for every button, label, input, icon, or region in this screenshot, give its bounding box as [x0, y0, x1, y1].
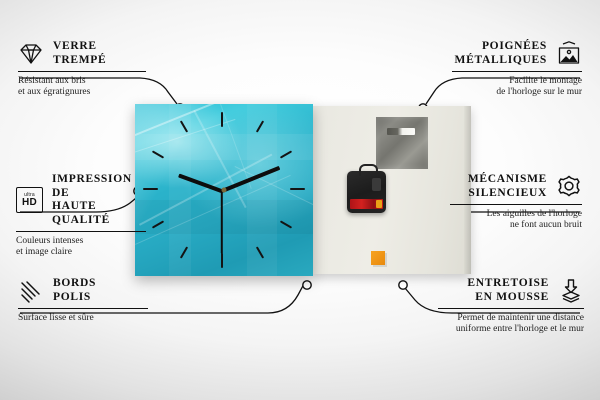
feature-mecanisme-silencieux: MÉCANISME SILENCIEUX Les aiguilles de l'… — [450, 173, 582, 232]
feature-title-line2: MÉTALLIQUES — [455, 54, 547, 68]
clock-center-hub — [222, 188, 227, 193]
feature-title-line1: MÉCANISME — [468, 173, 547, 187]
feature-subtitle-line1: Couleurs intenses — [16, 236, 146, 248]
feature-subtitle-line1: Résistant aux bris — [18, 76, 146, 88]
feature-rule — [18, 308, 148, 309]
feature-title-line2: SILENCIEUX — [468, 187, 547, 201]
feature-rule — [438, 308, 584, 309]
feature-title-line1: BORDS — [53, 277, 96, 291]
feature-entretoise-en-mousse: ENTRETOISE EN MOUSSE Permet de maintenir… — [438, 277, 584, 336]
feature-verre-trempe: VERRE TREMPÉ Résistant aux bris et aux é… — [18, 40, 146, 99]
feature-title-line2: HAUTE QUALITÉ — [52, 200, 146, 227]
aa-battery — [350, 199, 383, 209]
quartz-mechanism-box — [347, 171, 386, 213]
feature-subtitle-line1: Permet de maintenir une distance — [438, 313, 584, 325]
feature-subtitle-line1: Facilite le montage — [452, 76, 582, 88]
glass-wall-clock — [135, 104, 313, 276]
product-group — [135, 104, 471, 276]
feature-subtitle-line2: de l'horloge sur le mur — [452, 87, 582, 99]
polished-edges-icon — [18, 278, 44, 304]
feature-rule — [450, 204, 582, 205]
connector-dot-bords — [303, 281, 311, 289]
infographic-canvas: VERRE TREMPÉ Résistant aux bris et aux é… — [0, 0, 600, 400]
picture-frame-hook-icon — [556, 41, 582, 67]
ultra-hd-large-text: HD — [22, 198, 37, 208]
feature-title-line1: VERRE — [53, 40, 106, 54]
feature-subtitle-line2: ne font aucun bruit — [450, 220, 582, 232]
feature-title-line2: TREMPÉ — [53, 54, 106, 68]
connector-dot-entretoise — [399, 281, 407, 289]
feature-title-line1: ENTRETOISE — [467, 277, 549, 291]
foam-spacer — [371, 251, 385, 265]
gear-icon — [556, 174, 582, 200]
feature-subtitle-line1: Surface lisse et sûre — [18, 313, 148, 325]
feature-subtitle-line1: Les aiguilles de l'horloge — [450, 209, 582, 221]
diamond-icon — [18, 41, 44, 67]
feature-bords-polis: BORDS POLIS Surface lisse et sûre — [18, 277, 148, 324]
feature-impression-haute-qualite: ultra HD IMPRESSION DE HAUTE QUALITÉ Cou… — [16, 173, 146, 259]
mechanism-hanging-loop — [359, 164, 378, 176]
feature-title-line1: POIGNÉES — [455, 40, 547, 54]
feature-title-line2: EN MOUSSE — [467, 291, 549, 305]
ultra-hd-icon: ultra HD — [16, 187, 43, 213]
feature-title-line1: IMPRESSION DE — [52, 173, 146, 200]
feature-subtitle-line2: uniforme entre l'horloge et le mur — [438, 324, 584, 336]
mechanism-dial — [372, 178, 381, 191]
feature-subtitle-line2: et image claire — [16, 247, 146, 259]
clock-second-hand — [221, 191, 223, 254]
hanger-slot — [387, 128, 415, 135]
feature-subtitle-line2: et aux égratignures — [18, 87, 146, 99]
spacer-arrow-icon — [558, 278, 584, 304]
clock-back-panel — [312, 106, 471, 274]
metal-hanger-plate — [376, 117, 428, 169]
feature-rule — [452, 71, 582, 72]
feature-rule — [16, 231, 146, 232]
feature-poignees-metalliques: POIGNÉES MÉTALLIQUES Facilite le montage… — [452, 40, 582, 99]
feature-title-line2: POLIS — [53, 291, 96, 305]
feature-rule — [18, 71, 146, 72]
